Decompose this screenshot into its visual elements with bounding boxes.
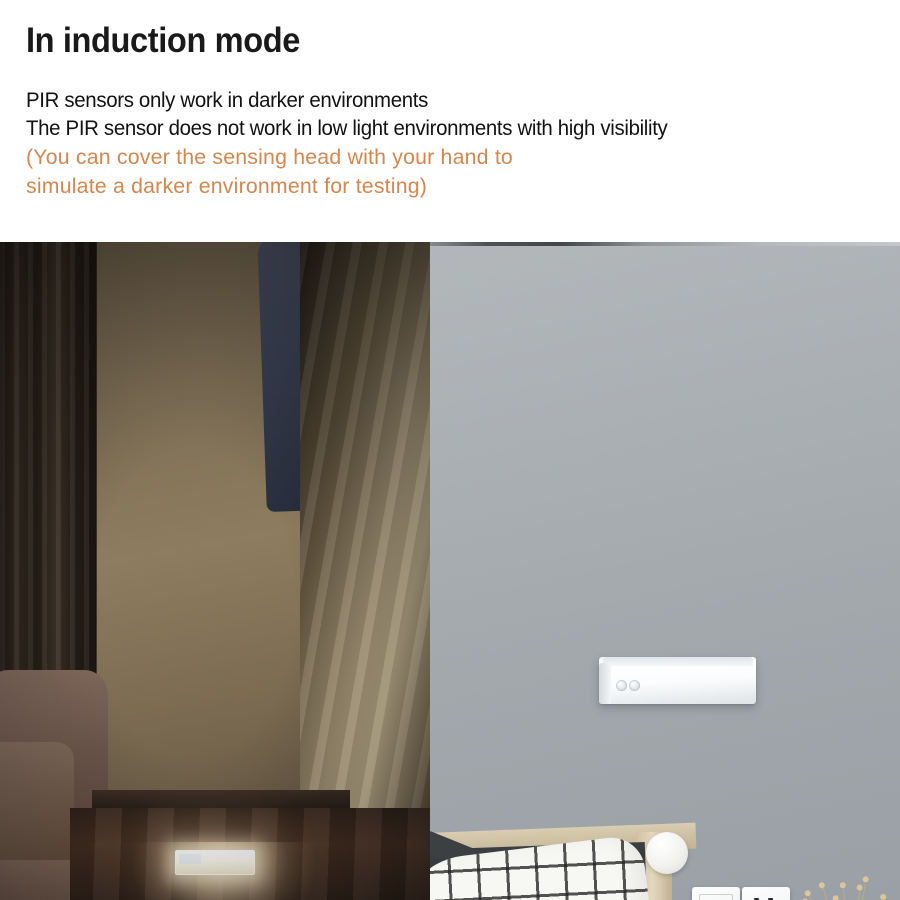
dried-flowers	[790, 864, 900, 900]
flower-stem	[849, 889, 861, 900]
description-block: PIR sensors only work in darker environm…	[26, 86, 874, 200]
lamp-left-bevel	[599, 663, 611, 704]
sensor-lens-a	[616, 680, 627, 691]
sensor-light-lit	[175, 850, 255, 875]
photo-dark-room: PIR sensors only sense in darker environ…	[0, 242, 430, 900]
photo-bright-room: In low light environments, visibility is…	[430, 242, 900, 900]
note-line-1: (You can cover the sensing head with you…	[26, 143, 866, 172]
product-feature-panel: In induction mode PIR sensors only work …	[0, 0, 900, 900]
description-line-2: The PIR sensor does not work in low ligh…	[26, 114, 832, 143]
pillow-pompom	[646, 832, 688, 874]
wall-power-socket	[742, 887, 790, 900]
pir-sensor-lens	[616, 680, 640, 693]
page-title: In induction mode	[26, 22, 815, 60]
note-line-2: simulate a darker environment for testin…	[26, 172, 866, 201]
armchair-cushion	[0, 742, 74, 872]
sensor-light-unlit	[599, 657, 756, 704]
comparison-photo-band: PIR sensors only sense in darker environ…	[0, 242, 900, 900]
description-line-1: PIR sensors only work in darker environm…	[26, 86, 832, 115]
wall-light-switch	[692, 887, 740, 900]
header-text-block: In induction mode PIR sensors only work …	[0, 0, 900, 242]
sensor-lens-b	[629, 680, 640, 691]
flower-stem	[843, 886, 851, 900]
ceiling-line	[430, 242, 900, 246]
baseboard	[92, 790, 350, 808]
lamp-top-edge	[603, 657, 753, 666]
